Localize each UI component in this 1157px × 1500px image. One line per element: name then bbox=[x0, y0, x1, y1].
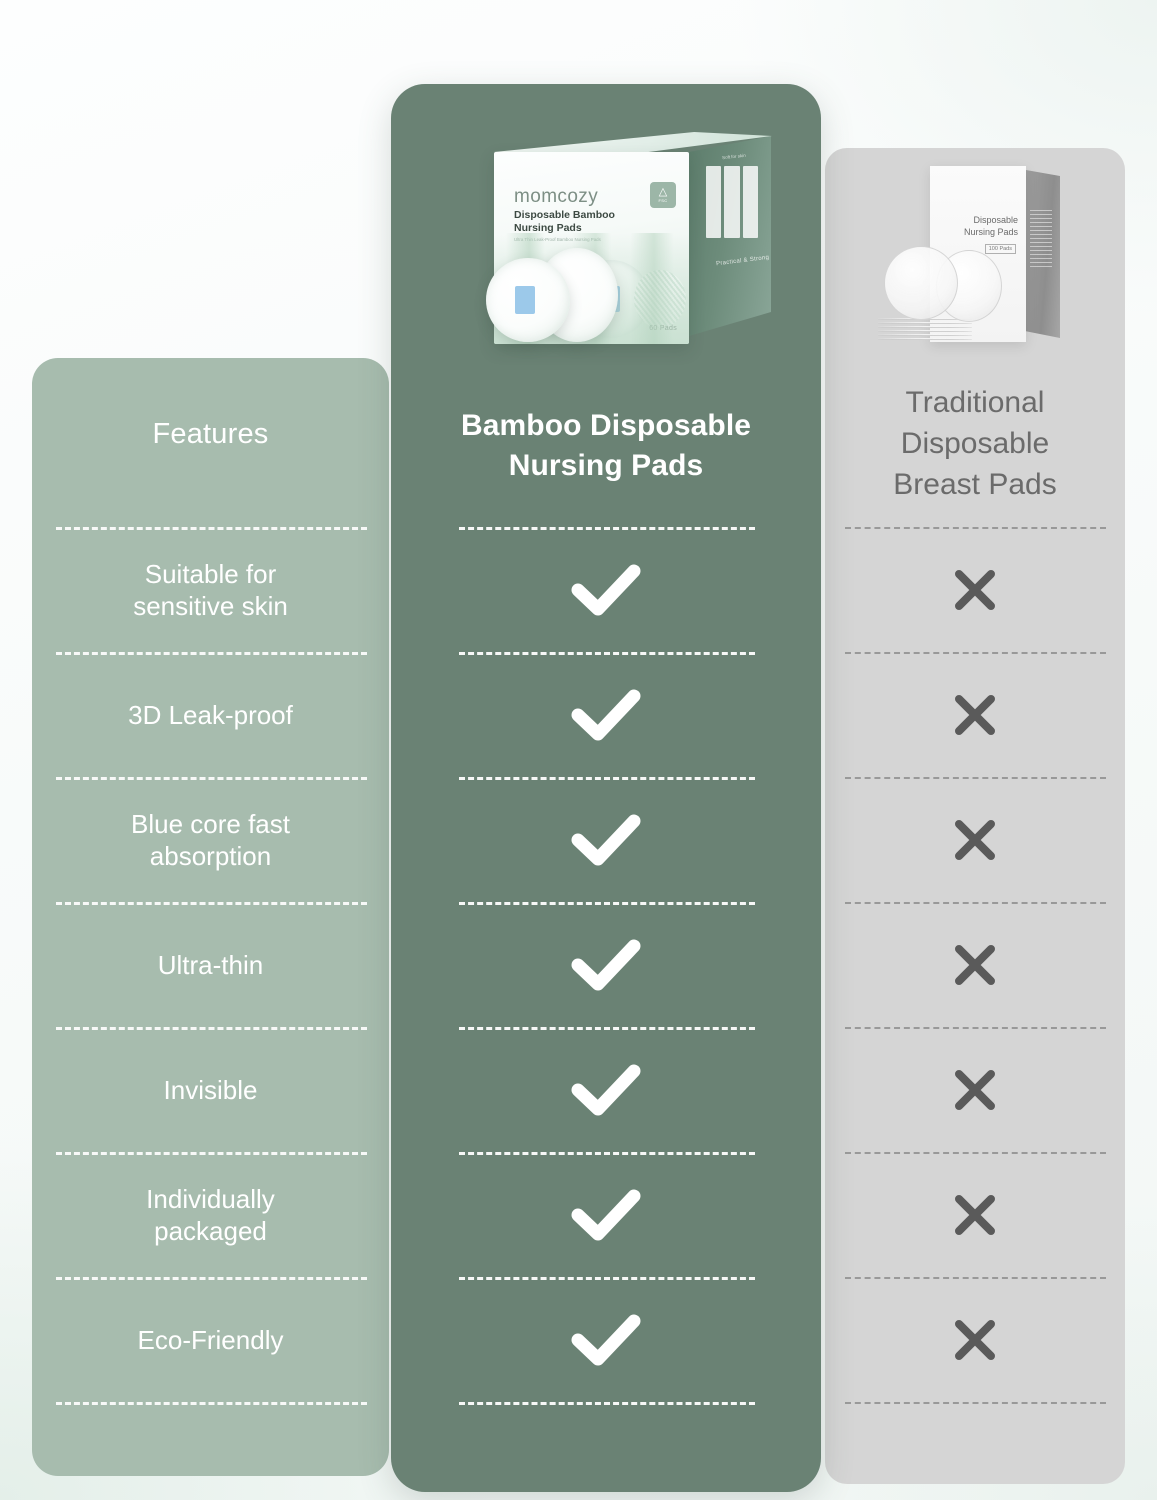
traditional-box-title: Disposable Nursing Pads bbox=[942, 214, 1018, 238]
momcozy-logo: momcozy bbox=[514, 186, 598, 208]
bamboo-value-row bbox=[391, 652, 821, 777]
box-sachet-graphics bbox=[706, 166, 758, 238]
traditional-value-row bbox=[825, 1027, 1125, 1152]
check-icon bbox=[391, 934, 821, 996]
traditional-box-count-badge: 100 Pads bbox=[985, 244, 1016, 254]
feature-row: Individuallypackaged bbox=[32, 1152, 389, 1277]
traditional-header-line3: Breast Pads bbox=[843, 464, 1107, 505]
bamboo-value-row bbox=[391, 1277, 821, 1402]
check-icon bbox=[391, 1309, 821, 1371]
bamboo-column-header: Bamboo Disposable Nursing Pads bbox=[400, 406, 812, 486]
cross-icon bbox=[825, 1064, 1125, 1116]
traditional-box-title-line2: Nursing Pads bbox=[942, 226, 1018, 238]
cross-icon bbox=[825, 1189, 1125, 1241]
feature-label-line1: Suitable for bbox=[58, 558, 363, 590]
check-icon bbox=[391, 809, 821, 871]
check-icon bbox=[391, 1059, 821, 1121]
cross-icon bbox=[825, 564, 1125, 616]
check-icon bbox=[391, 1184, 821, 1246]
comparison-chart: Soft for skin Practical & Strong momcozy… bbox=[0, 0, 1157, 1500]
traditional-column-header: Traditional Disposable Breast Pads bbox=[843, 382, 1107, 505]
box-subtitle: Ultra Thin Leak-Proof Bamboo Nursing Pad… bbox=[514, 237, 654, 243]
traditional-product-image: Disposable Nursing Pads 100 Pads bbox=[878, 150, 1074, 376]
traditional-header-line1: Traditional bbox=[843, 382, 1107, 423]
traditional-value-row bbox=[825, 777, 1125, 902]
feature-row: Eco-Friendly bbox=[32, 1277, 389, 1402]
bamboo-value-row bbox=[391, 777, 821, 902]
cross-icon bbox=[825, 814, 1125, 866]
bamboo-value-row bbox=[391, 527, 821, 652]
traditional-pad-stack bbox=[878, 318, 972, 342]
cross-icon bbox=[825, 1314, 1125, 1366]
loose-nursing-pad-front bbox=[486, 258, 570, 342]
traditional-value-row bbox=[825, 652, 1125, 777]
features-column-header: Features bbox=[32, 418, 389, 451]
check-icon bbox=[391, 684, 821, 746]
cross-icon bbox=[825, 689, 1125, 741]
fsc-label: FSC bbox=[659, 198, 668, 203]
row-divider-traditional bbox=[845, 1402, 1106, 1404]
feature-label: Individuallypackaged bbox=[32, 1183, 389, 1247]
bamboo-value-row bbox=[391, 1027, 821, 1152]
box-pad-texture-graphic bbox=[634, 270, 686, 328]
feature-row: Blue core fastabsorption bbox=[32, 777, 389, 902]
traditional-box-title-line1: Disposable bbox=[942, 214, 1018, 226]
feature-label: Blue core fastabsorption bbox=[32, 808, 389, 872]
momcozy-product-image: Soft for skin Practical & Strong momcozy… bbox=[424, 120, 796, 380]
feature-row: Ultra-thin bbox=[32, 902, 389, 1027]
feature-label-line2: absorption bbox=[58, 840, 363, 872]
traditional-header-line2: Disposable bbox=[843, 423, 1107, 464]
traditional-pad-front bbox=[884, 246, 958, 320]
feature-row: Suitable forsensitive skin bbox=[32, 527, 389, 652]
bamboo-header-line1: Bamboo Disposable bbox=[400, 406, 812, 446]
cross-icon bbox=[825, 939, 1125, 991]
check-icon bbox=[391, 559, 821, 621]
bamboo-value-row bbox=[391, 902, 821, 1027]
box-title-line2: Nursing Pads bbox=[514, 222, 664, 235]
feature-label: Ultra-thin bbox=[32, 949, 389, 981]
feature-label: Invisible bbox=[32, 1074, 389, 1106]
traditional-box-side-text-lines bbox=[1030, 210, 1052, 268]
bamboo-value-row bbox=[391, 1152, 821, 1277]
traditional-value-row bbox=[825, 1277, 1125, 1402]
traditional-value-row bbox=[825, 1152, 1125, 1277]
traditional-value-row bbox=[825, 902, 1125, 1027]
feature-label-line1: Individually bbox=[58, 1183, 363, 1215]
feature-label-line2: sensitive skin bbox=[58, 590, 363, 622]
box-title-line1: Disposable Bamboo bbox=[514, 209, 664, 222]
feature-label: Eco-Friendly bbox=[32, 1324, 389, 1356]
feature-row: Invisible bbox=[32, 1027, 389, 1152]
feature-label-line1: Blue core fast bbox=[58, 808, 363, 840]
feature-label: 3D Leak-proof bbox=[32, 699, 389, 731]
row-divider-features bbox=[56, 1402, 367, 1405]
box-product-title: Disposable Bamboo Nursing Pads bbox=[514, 209, 664, 235]
fsc-certification-icon: △ FSC bbox=[650, 182, 676, 208]
feature-label-line2: packaged bbox=[58, 1215, 363, 1247]
tree-icon: △ bbox=[659, 187, 667, 198]
bamboo-header-line2: Nursing Pads bbox=[400, 446, 812, 486]
box-count-badge: 60 Pads bbox=[649, 325, 677, 332]
feature-label: Suitable forsensitive skin bbox=[32, 558, 389, 622]
traditional-value-row bbox=[825, 527, 1125, 652]
row-divider-bamboo bbox=[459, 1402, 755, 1405]
feature-row: 3D Leak-proof bbox=[32, 652, 389, 777]
